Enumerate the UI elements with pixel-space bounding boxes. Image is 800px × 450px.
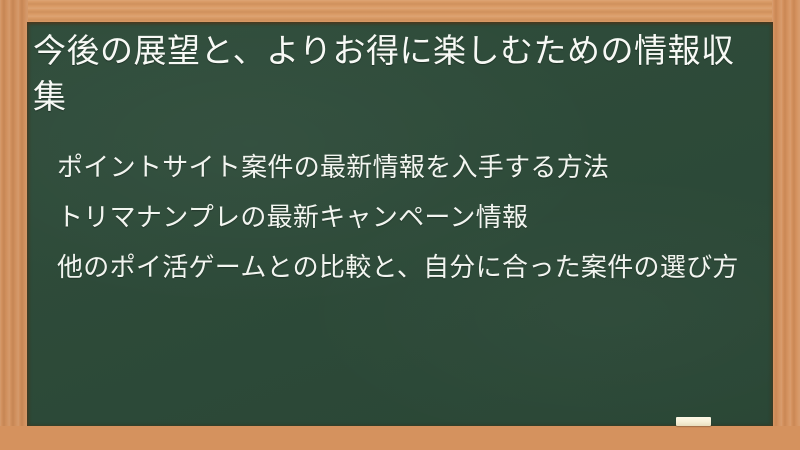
chalk-ledge (0, 426, 800, 450)
frame-rail-left (0, 0, 28, 450)
list-item: ポイントサイト案件の最新情報を入手する方法 (33, 148, 755, 187)
chalkboard-slide: 今後の展望と、よりお得に楽しむための情報収集 ポイントサイト案件の最新情報を入手… (0, 0, 800, 450)
bullet-list: ポイントサイト案件の最新情報を入手する方法 トリマナンプレの最新キャンペーン情報… (33, 148, 755, 298)
page-title: 今後の展望と、よりお得に楽しむための情報収集 (33, 28, 755, 120)
list-item: 他のポイ活ゲームとの比較と、自分に合った案件の選び方 (33, 248, 755, 287)
frame-rail-top (0, 0, 800, 23)
chalk-stick (676, 417, 711, 426)
slide-content: 今後の展望と、よりお得に楽しむための情報収集 ポイントサイト案件の最新情報を入手… (27, 22, 773, 426)
frame-rail-right (772, 0, 800, 450)
list-item: トリマナンプレの最新キャンペーン情報 (33, 198, 755, 237)
